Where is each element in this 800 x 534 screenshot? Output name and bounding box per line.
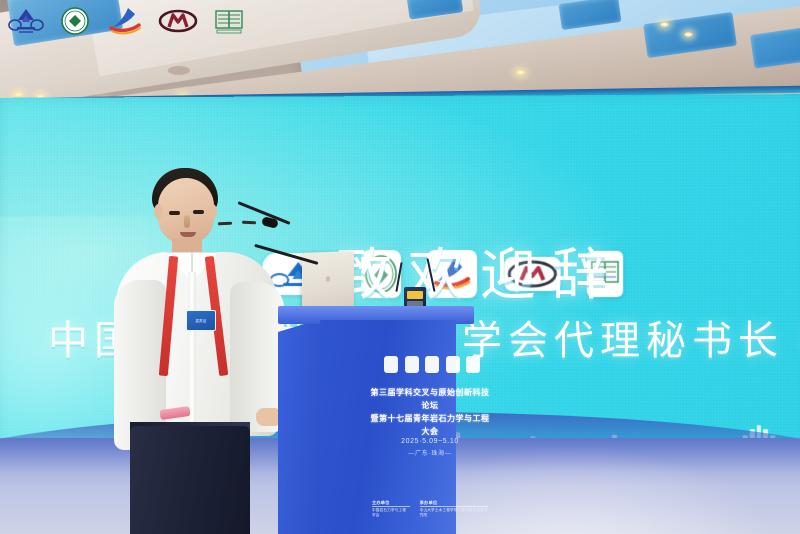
podium-title: 第三届学科交叉与原始创新科技论坛 暨第十七届青年岩石力学与工程大会 <box>370 386 490 438</box>
podium-sponsor-host: 主办单位 中国岩石力学与工程学会 <box>372 500 410 518</box>
podium-logo-4 <box>446 356 460 373</box>
podium-location: —广东·珠海— <box>370 448 490 457</box>
ceiling-downlight <box>684 32 693 37</box>
podium-side-panel <box>278 318 324 534</box>
timer-display <box>407 291 423 299</box>
podium-title-line-2: 暨第十七届青年岩石力学与工程大会 <box>370 412 490 438</box>
podium-sponsor-organizer: 承办单位 中山大学土木工程学院 / 珠海复合地基研究院 <box>420 500 488 518</box>
podium-sponsor-organizer-org: 中山大学土木工程学院 / 珠海复合地基研究院 <box>420 508 488 517</box>
university-green-seal-icon <box>60 6 90 36</box>
cssrm-emblem-icon <box>8 6 44 36</box>
podium-logo-row <box>384 354 480 374</box>
ceiling-downlight <box>516 70 525 75</box>
podium: 第三届学科交叉与原始创新科技论坛 暨第十七届青年岩石力学与工程大会 2025·5… <box>278 306 474 534</box>
speaker-ear <box>208 204 217 219</box>
podium-logo-1 <box>384 356 398 373</box>
podium-sponsor-block: 主办单位 中国岩石力学与工程学会 承办单位 中山大学土木工程学院 / 珠海复合地… <box>372 500 488 518</box>
podium-logo-3 <box>425 356 439 373</box>
speaker-trousers <box>130 426 250 534</box>
podium-date: 2025·5.09~5.10 <box>370 436 490 447</box>
divider <box>420 506 488 507</box>
ceiling-downlight <box>660 22 669 27</box>
speaker-badge-text: 嘉宾证 <box>195 319 206 323</box>
podium-front-panel: 第三届学科交叉与原始创新科技论坛 暨第十七届青年岩石力学与工程大会 2025·5… <box>320 320 456 534</box>
swirl-red-blue-logo-icon <box>106 6 142 36</box>
ceiling-speaker-grille <box>168 66 190 75</box>
green-book-logo-icon <box>214 7 244 35</box>
podium-logo-2 <box>405 356 419 373</box>
podium-sponsor-host-role: 主办单位 <box>372 500 410 505</box>
speaker-eye <box>169 211 180 215</box>
podium-logo-5 <box>466 356 480 373</box>
speaker-ear <box>154 204 163 219</box>
watermark-logo-row <box>8 4 270 38</box>
conference-stage-scene: 致欢迎辞 中国岩石力学与工程学会代理秘书长 杨军 教授 嘉宾证 <box>0 0 800 534</box>
ceiling-downlight <box>14 92 23 97</box>
divider <box>372 506 410 507</box>
screen-headline: 致欢迎辞 <box>336 230 624 311</box>
speaker-nose <box>184 215 190 228</box>
speaker-badge: 嘉宾证 <box>186 310 216 331</box>
podium-sponsor-organizer-role: 承办单位 <box>420 500 488 505</box>
laptop-logo <box>326 276 330 281</box>
podium-title-line-1: 第三届学科交叉与原始创新科技论坛 <box>370 386 490 412</box>
speaker-eye <box>193 210 204 214</box>
speaker-eyebrow <box>242 221 256 225</box>
m-oval-logo-icon <box>158 8 198 34</box>
podium-sponsor-host-org: 中国岩石力学与工程学会 <box>372 508 406 517</box>
speaker-mouth <box>180 232 196 237</box>
speaker-eyebrow <box>218 222 232 226</box>
